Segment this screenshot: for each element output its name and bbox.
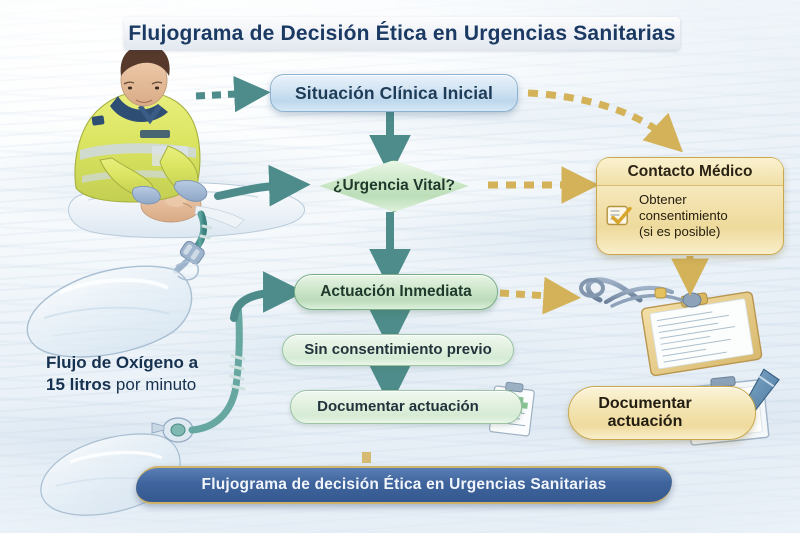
card-contacto-body-line2: consentimiento xyxy=(639,208,728,223)
flowchart-infographic: Flujograma de Decisión Ética en Urgencia… xyxy=(0,0,800,533)
node-documentar-alt-line1: Documentar xyxy=(598,395,691,413)
node-sin-consentimiento-previo[interactable]: Sin consentimiento previo xyxy=(282,334,514,366)
node-urgencia-label: ¿Urgencia Vital? xyxy=(333,177,455,195)
oxygen-caption-line2: 15 litros por minuto xyxy=(46,374,266,396)
page-title: Flujograma de Decisión Ética en Urgencia… xyxy=(124,17,680,50)
oxygen-caption-line1: Flujo de Oxígeno a xyxy=(46,352,266,374)
card-contacto-medico[interactable]: Contacto Médico Obtener consentimiento (… xyxy=(596,157,784,255)
node-documentar-label: Documentar actuación xyxy=(317,398,479,415)
connector-oxygen-to-urgencia xyxy=(218,185,294,196)
card-contacto-heading: Contacto Médico xyxy=(597,158,783,186)
connector-situacion-to-contacto xyxy=(528,93,672,142)
footer-banner: Flujograma de decisión Ética en Urgencia… xyxy=(136,466,672,504)
node-situacion-clinica-inicial[interactable]: Situación Clínica Inicial xyxy=(270,74,518,112)
node-situacion-label: Situación Clínica Inicial xyxy=(295,83,493,103)
card-contacto-body: Obtener consentimiento (si es posible) xyxy=(639,192,728,240)
oxygen-flow-caption: Flujo de Oxígeno a 15 litros por minuto xyxy=(46,352,266,396)
connector-paramedic-to-situacion xyxy=(196,93,256,96)
footer-accent-mark xyxy=(362,452,371,463)
card-contacto-body-line3: (si es posible) xyxy=(639,224,720,239)
card-contacto-body-line1: Obtener xyxy=(639,192,687,207)
connector-oxygen-to-actuacion xyxy=(234,292,288,318)
node-sin-consentimiento-label: Sin consentimiento previo xyxy=(304,341,492,358)
node-actuacion-label: Actuación Inmediata xyxy=(320,283,472,301)
connector-actuacion-to-documentacion xyxy=(500,293,566,297)
node-documentar-actuacion[interactable]: Documentar actuación xyxy=(290,390,522,424)
node-documentar-actuacion-alternativa[interactable]: Documentar actuación xyxy=(568,386,756,440)
page-title-text: Flujograma de Decisión Ética en Urgencia… xyxy=(128,22,675,46)
node-actuacion-inmediata[interactable]: Actuación Inmediata xyxy=(294,274,498,310)
oxygen-caption-value: 15 litros xyxy=(46,375,111,394)
oxygen-caption-unit: por minuto xyxy=(111,375,196,394)
checklist-check-icon xyxy=(606,204,632,228)
node-documentar-alt-line2: actuación xyxy=(608,413,683,431)
footer-banner-text: Flujograma de decisión Ética en Urgencia… xyxy=(202,476,607,494)
